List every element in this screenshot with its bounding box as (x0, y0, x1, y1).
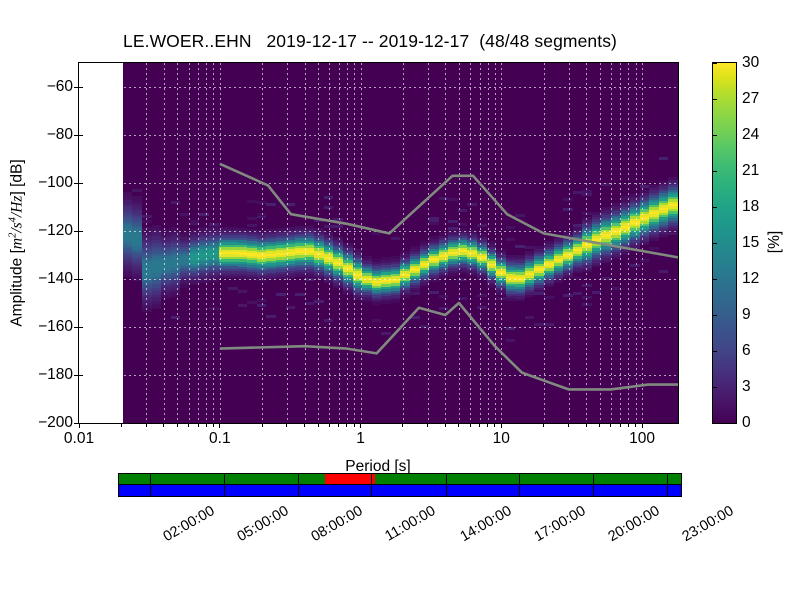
colorbar-tick-mark (713, 99, 717, 100)
x-tick-mark (501, 423, 502, 428)
x-minor-tick (620, 423, 621, 427)
x-minor-tick (163, 423, 164, 427)
y-tick-mark (79, 423, 83, 424)
y-tick-mark (79, 135, 83, 136)
colorbar-label: [%] (766, 231, 784, 253)
colorbar-tick-mark (713, 387, 717, 388)
x-minor-tick (458, 423, 459, 427)
coverage-tick-mark (446, 474, 447, 484)
x-tick-label: 1 (356, 430, 365, 448)
x-minor-tick (177, 423, 178, 427)
coverage-tick-mark (519, 474, 520, 484)
coverage-tick-mark (593, 485, 594, 496)
coverage-tick-mark (224, 485, 225, 496)
x-minor-tick (146, 423, 147, 427)
x-minor-tick (188, 423, 189, 427)
colorbar-tick-mark (713, 315, 717, 316)
x-tick-mark (219, 423, 220, 428)
y-tick-label: −120 (38, 222, 73, 240)
y-tick-label: −140 (38, 270, 73, 288)
y-tick-mark (79, 231, 83, 232)
colorbar-tick-label: 30 (742, 54, 759, 72)
x-minor-tick (635, 423, 636, 427)
coverage-segment (325, 474, 376, 484)
ppsd-figure: LE.WOER..EHN 2019-12-17 -- 2019-12-17 (4… (0, 0, 800, 600)
x-minor-tick (286, 423, 287, 427)
x-minor-tick (346, 423, 347, 427)
coverage-time-label: 17:00:00 (531, 503, 588, 545)
colorbar: 036912151821242730 (712, 62, 737, 424)
coverage-row-data (119, 474, 681, 484)
colorbar-tick-label: 9 (742, 306, 751, 324)
x-minor-tick (262, 423, 263, 427)
y-tick-mark (79, 183, 83, 184)
coverage-time-label: 20:00:00 (606, 503, 663, 545)
page-title: LE.WOER..EHN 2019-12-17 -- 2019-12-17 (4… (0, 31, 740, 52)
coverage-tick-mark (667, 474, 668, 484)
x-minor-tick (354, 423, 355, 427)
coverage-tick-mark (298, 485, 299, 496)
x-minor-tick (213, 423, 214, 427)
x-minor-tick (479, 423, 480, 427)
x-minor-tick (338, 423, 339, 427)
x-tick-label: 10 (493, 430, 510, 448)
x-minor-tick (487, 423, 488, 427)
x-tick-mark (79, 423, 80, 428)
x-minor-tick (402, 423, 403, 427)
colorbar-tick-label: 6 (742, 342, 751, 360)
coverage-time-label: 23:00:00 (679, 503, 736, 545)
noise-model-layer (79, 63, 678, 423)
y-tick-label: −60 (47, 78, 73, 96)
y-tick-label: −180 (38, 366, 73, 384)
coverage-tick-mark (150, 474, 151, 484)
x-tick-mark (360, 423, 361, 428)
colorbar-tick-label: 0 (742, 414, 751, 432)
ppsd-plot-area (79, 63, 678, 423)
y-tick-mark (79, 279, 83, 280)
coverage-tick-mark (371, 474, 372, 484)
colorbar-tick-label: 3 (742, 378, 751, 396)
coverage-tick-mark (150, 485, 151, 496)
colorbar-tick-label: 24 (742, 126, 759, 144)
y-tick-mark (79, 87, 83, 88)
x-tick-label: 0.1 (209, 430, 231, 448)
x-minor-tick (427, 423, 428, 427)
x-tick-label: 0.01 (64, 430, 94, 448)
x-minor-tick (628, 423, 629, 427)
coverage-tick-mark (593, 474, 594, 484)
coverage-tick-mark (298, 474, 299, 484)
colorbar-tick-mark (713, 243, 717, 244)
x-minor-tick (318, 423, 319, 427)
coverage-tick-mark (446, 485, 447, 496)
coverage-tick-mark (519, 485, 520, 496)
coverage-time-label: 11:00:00 (383, 503, 439, 545)
coverage-segment (375, 474, 681, 484)
colorbar-tick-label: 27 (742, 90, 759, 108)
coverage-tick-mark (667, 485, 668, 496)
x-minor-tick (470, 423, 471, 427)
colorbar-tick-label: 18 (742, 198, 759, 216)
colorbar-tick-label: 12 (742, 270, 759, 288)
x-minor-tick (494, 423, 495, 427)
x-tick-mark (642, 423, 643, 428)
colorbar-tick-mark (713, 351, 717, 352)
x-minor-tick (599, 423, 600, 427)
y-tick-mark (79, 327, 83, 328)
coverage-bar (118, 473, 682, 497)
ppsd-axes: −60−80−100−120−140−160−180−200 0.010.111… (78, 62, 679, 424)
x-minor-tick (445, 423, 446, 427)
x-minor-tick (198, 423, 199, 427)
coverage-time-label: 05:00:00 (234, 503, 291, 545)
colorbar-tick-mark (713, 279, 717, 280)
colorbar-tick-mark (713, 63, 717, 64)
x-minor-tick (304, 423, 305, 427)
colorbar-tick-label: 15 (742, 234, 759, 252)
colorbar-tick-mark (713, 171, 717, 172)
coverage-tick-mark (224, 474, 225, 484)
colorbar-tick-mark (713, 207, 717, 208)
x-minor-tick (543, 423, 544, 427)
x-minor-tick (610, 423, 611, 427)
coverage-row-span (119, 485, 681, 496)
x-minor-tick (568, 423, 569, 427)
coverage-tick-mark (371, 485, 372, 496)
coverage-time-label: 14:00:00 (457, 503, 514, 545)
y-tick-label: −100 (38, 174, 73, 192)
x-minor-tick (121, 423, 122, 427)
y-tick-mark (79, 375, 83, 376)
coverage-span-segment (119, 485, 681, 496)
x-minor-tick (206, 423, 207, 427)
noise-model-low-line (220, 303, 678, 389)
y-tick-label: −160 (38, 318, 73, 336)
x-minor-tick (329, 423, 330, 427)
colorbar-tick-mark (713, 135, 717, 136)
noise-model-high-line (220, 164, 678, 258)
x-minor-tick (586, 423, 587, 427)
coverage-time-label: 08:00:00 (309, 503, 366, 545)
colorbar-tick-label: 21 (742, 162, 759, 180)
y-axis-label: Amplitude [m2/s4/Hz] [dB] (7, 159, 26, 326)
coverage-time-label: 02:00:00 (161, 503, 218, 545)
y-tick-label: −80 (47, 126, 73, 144)
x-tick-label: 100 (629, 430, 655, 448)
